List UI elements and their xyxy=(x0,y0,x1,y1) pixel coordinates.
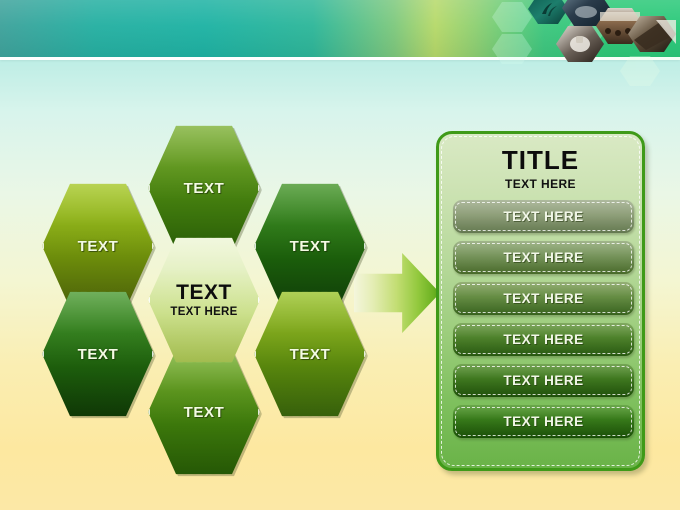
slide-canvas: TEXT TEXT TEXT TEXT TEXT TEXT TEXT TE xyxy=(0,0,680,510)
content-panel: TITLE TEXT HERE TEXT HERE TEXT HERE TEXT… xyxy=(436,131,645,471)
panel-item-label: TEXT HERE xyxy=(503,209,583,224)
panel-item-2[interactable]: TEXT HERE xyxy=(453,241,634,274)
hex-tint-lower-left xyxy=(492,34,532,64)
panel-item-4[interactable]: TEXT HERE xyxy=(453,323,634,356)
panel-item-label: TEXT HERE xyxy=(503,332,583,347)
panel-item-label: TEXT HERE xyxy=(503,373,583,388)
hex-photo-hand-plant xyxy=(528,0,568,24)
hexagon-upper-left[interactable]: TEXT xyxy=(42,182,154,310)
hexagon-label: TEXT xyxy=(78,346,119,363)
hexagon-lower-left[interactable]: TEXT xyxy=(42,290,154,418)
hexagon-label: TEXT xyxy=(184,404,225,421)
hex-tint-upper-left xyxy=(492,2,532,32)
hexagon-center-subtitle: TEXT HERE xyxy=(170,306,237,318)
panel-item-6[interactable]: TEXT HERE xyxy=(453,405,634,438)
decor-hex-svg xyxy=(480,0,680,92)
flow-arrow-right-icon xyxy=(354,253,440,333)
hexagon-lower-right[interactable]: TEXT xyxy=(254,290,366,418)
hexagon-center-title: TEXT xyxy=(176,282,232,303)
panel-item-label: TEXT HERE xyxy=(503,414,583,429)
hexagon-upper-right[interactable]: TEXT xyxy=(254,182,366,310)
panel-item-label: TEXT HERE xyxy=(503,250,583,265)
panel-title: TITLE xyxy=(439,147,642,173)
hexagon-label: TEXT xyxy=(78,238,119,255)
hexagon-label: TEXT xyxy=(290,238,331,255)
panel-item-label: TEXT HERE xyxy=(503,291,583,306)
hex-tint-far-right xyxy=(620,56,660,86)
header-decor-hex-cluster xyxy=(480,0,680,92)
hexagon-label: TEXT xyxy=(184,180,225,197)
hexagon-center[interactable]: TEXT TEXT HERE xyxy=(148,236,260,364)
hexagon-top[interactable]: TEXT xyxy=(148,124,260,252)
hexagon-label: TEXT xyxy=(290,346,331,363)
hexagon-bottom[interactable]: TEXT xyxy=(148,348,260,476)
panel-subtitle: TEXT HERE xyxy=(439,177,642,191)
panel-item-5[interactable]: TEXT HERE xyxy=(453,364,634,397)
panel-item-3[interactable]: TEXT HERE xyxy=(453,282,634,315)
panel-item-1[interactable]: TEXT HERE xyxy=(453,200,634,233)
